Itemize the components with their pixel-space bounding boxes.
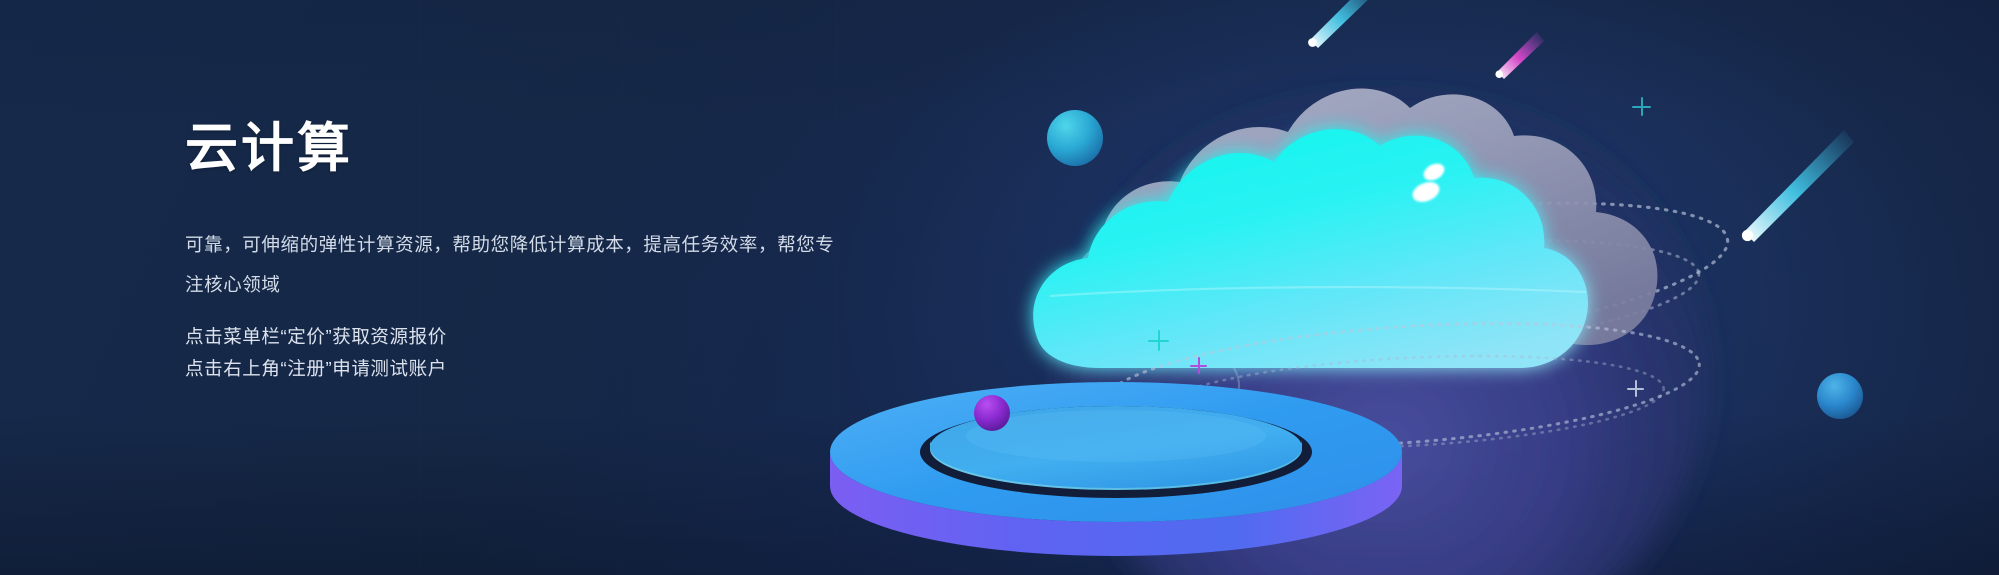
hero-illustration [800, 0, 1999, 575]
teal-sphere [1047, 110, 1103, 166]
hero-description: 可靠，可伸缩的弹性计算资源，帮助您降低计算成本，提高任务效率，帮您专注核心领域 [185, 225, 840, 305]
podium-platform [830, 382, 1402, 556]
cta-line-register: 点击右上角“注册”申请测试账户 [185, 353, 925, 385]
page-title: 云计算 [185, 118, 925, 181]
blue-sphere [1817, 373, 1863, 419]
cta-line-pricing: 点击菜单栏“定价”获取资源报价 [185, 321, 925, 353]
cloud-computing-hero-banner: 云计算 可靠，可伸缩的弹性计算资源，帮助您降低计算成本，提高任务效率，帮您专注核… [0, 0, 1999, 575]
purple-sphere [974, 395, 1010, 431]
hero-copy: 云计算 可靠，可伸缩的弹性计算资源，帮助您降低计算成本，提高任务效率，帮您专注核… [185, 118, 925, 385]
